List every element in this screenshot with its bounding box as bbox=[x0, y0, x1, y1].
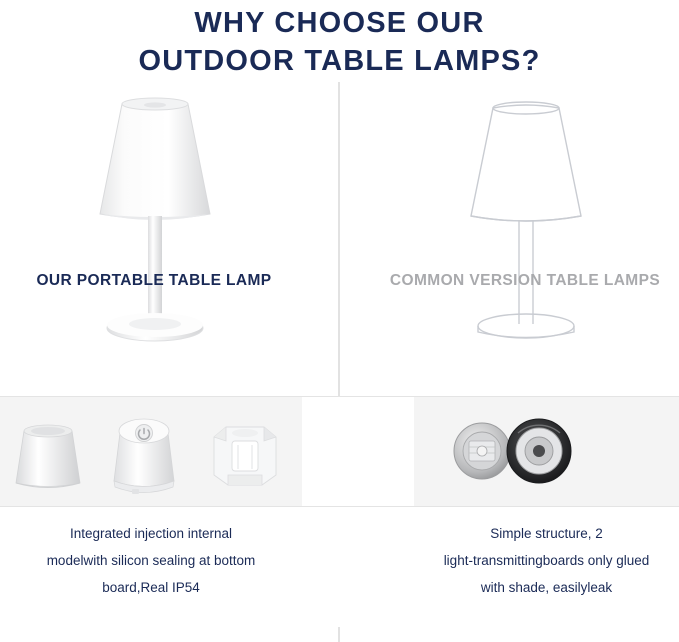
left-parts-panel bbox=[0, 397, 302, 506]
lamp-base-with-power-button-icon bbox=[114, 419, 174, 494]
right-parts-panel bbox=[414, 397, 679, 506]
page-title-line1: WHY CHOOSE OUR bbox=[194, 7, 484, 39]
lamp-shade-part-icon bbox=[16, 425, 80, 488]
white-cordless-table-lamp-icon bbox=[60, 96, 250, 356]
right-product-column bbox=[375, 88, 675, 388]
comparison-section: V/S bbox=[0, 88, 679, 388]
right-caption-line-2: light-transmittingboards only glued bbox=[414, 547, 679, 574]
center-gap bbox=[302, 397, 414, 627]
left-caption-line-2: modelwith silicon sealing at bottom bbox=[0, 547, 302, 574]
common-lamp-base-cross-section-icon bbox=[507, 419, 571, 483]
left-caption-line-1: Integrated injection internal bbox=[0, 520, 302, 547]
right-lamp-label: COMMON VERSION TABLE LAMPS bbox=[375, 272, 675, 290]
right-lamp-image bbox=[375, 88, 675, 358]
right-parts-image bbox=[414, 397, 679, 506]
right-caption-line-3: with shade, easilyleak bbox=[414, 574, 679, 601]
page-title-line2: OUTDOOR TABLE LAMPS? bbox=[0, 42, 679, 80]
left-lamp-label: OUR PORTABLE TABLE LAMP bbox=[4, 272, 304, 290]
glued-light-transmitting-board-icon bbox=[454, 423, 510, 479]
right-caption: Simple structure, 2 light-transmittingbo… bbox=[414, 520, 679, 601]
left-lamp-image bbox=[4, 88, 304, 358]
left-parts-image bbox=[0, 397, 302, 506]
left-caption: Integrated injection internal modelwith … bbox=[0, 520, 302, 601]
outline-table-lamp-icon bbox=[431, 96, 621, 356]
left-caption-line-3: board,Real IP54 bbox=[0, 574, 302, 601]
internal-injection-module-icon bbox=[214, 427, 276, 485]
right-caption-line-1: Simple structure, 2 bbox=[414, 520, 679, 547]
left-product-column bbox=[4, 88, 304, 388]
divider-rule-bottom bbox=[0, 506, 679, 507]
page-title: WHY CHOOSE OUR OUTDOOR TABLE LAMPS? bbox=[0, 0, 679, 80]
